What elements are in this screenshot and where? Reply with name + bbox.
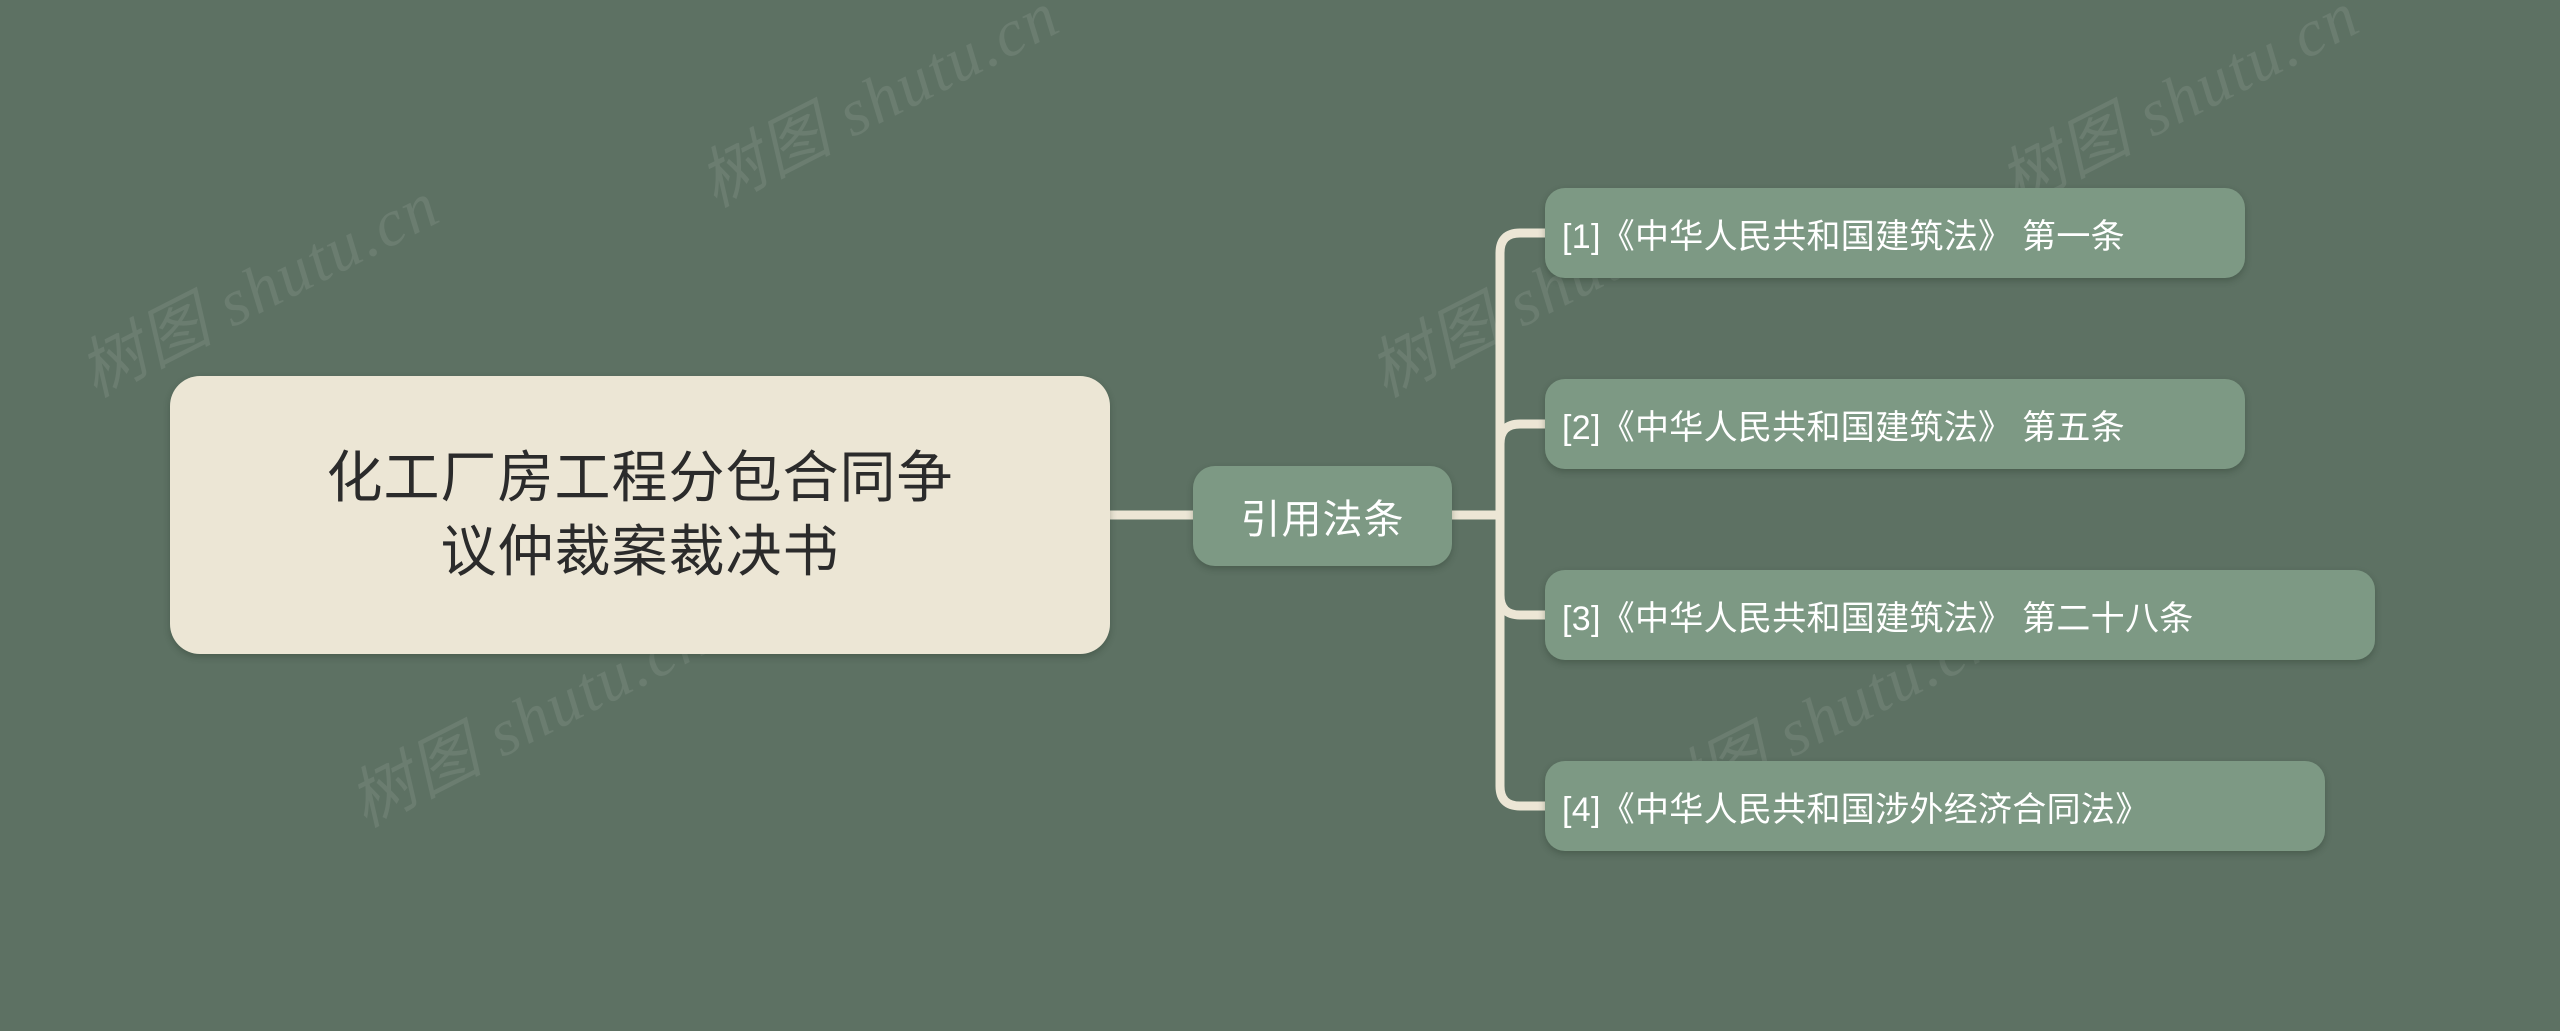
root-node-label-line-2: 议仲裁案裁决书 — [441, 520, 840, 583]
mindmap-canvas: 树图 shutu.cn 树图 shutu.cn 树图 shutu.cn 树图 s… — [0, 0, 2560, 1031]
watermark-text: 树图 shutu.cn — [680, 0, 1073, 226]
branch-node-label: 引用法条 — [1241, 487, 1405, 545]
leaf-node-2-label: [2]《中华人民共和国建筑法》 第五条 — [1562, 400, 2125, 449]
leaf-node-3[interactable]: [3]《中华人民共和国建筑法》 第二十八条 — [1545, 570, 2375, 660]
branch-node-cited-laws[interactable]: 引用法条 — [1193, 466, 1452, 566]
connector-branch-to-leaf-4 — [1500, 515, 1545, 806]
leaf-node-4-label: [4]《中华人民共和国涉外经济合同法》 — [1562, 782, 2150, 831]
root-node-label-line-1: 化工厂房工程分包合同争 — [327, 446, 954, 509]
root-node-label: 化工厂房工程分包合同争 议仲裁案裁决书 — [327, 441, 954, 590]
leaf-node-1[interactable]: [1]《中华人民共和国建筑法》 第一条 — [1545, 188, 2245, 278]
connector-branch-to-leaf-3 — [1500, 515, 1545, 615]
connector-branch-to-leaf-2 — [1500, 424, 1545, 515]
connector-branch-to-leaf-1 — [1500, 233, 1545, 515]
leaf-node-4[interactable]: [4]《中华人民共和国涉外经济合同法》 — [1545, 761, 2325, 851]
leaf-node-2[interactable]: [2]《中华人民共和国建筑法》 第五条 — [1545, 379, 2245, 469]
leaf-node-1-label: [1]《中华人民共和国建筑法》 第一条 — [1562, 209, 2125, 258]
root-node[interactable]: 化工厂房工程分包合同争 议仲裁案裁决书 — [170, 376, 1110, 654]
leaf-node-3-label: [3]《中华人民共和国建筑法》 第二十八条 — [1562, 591, 2194, 640]
